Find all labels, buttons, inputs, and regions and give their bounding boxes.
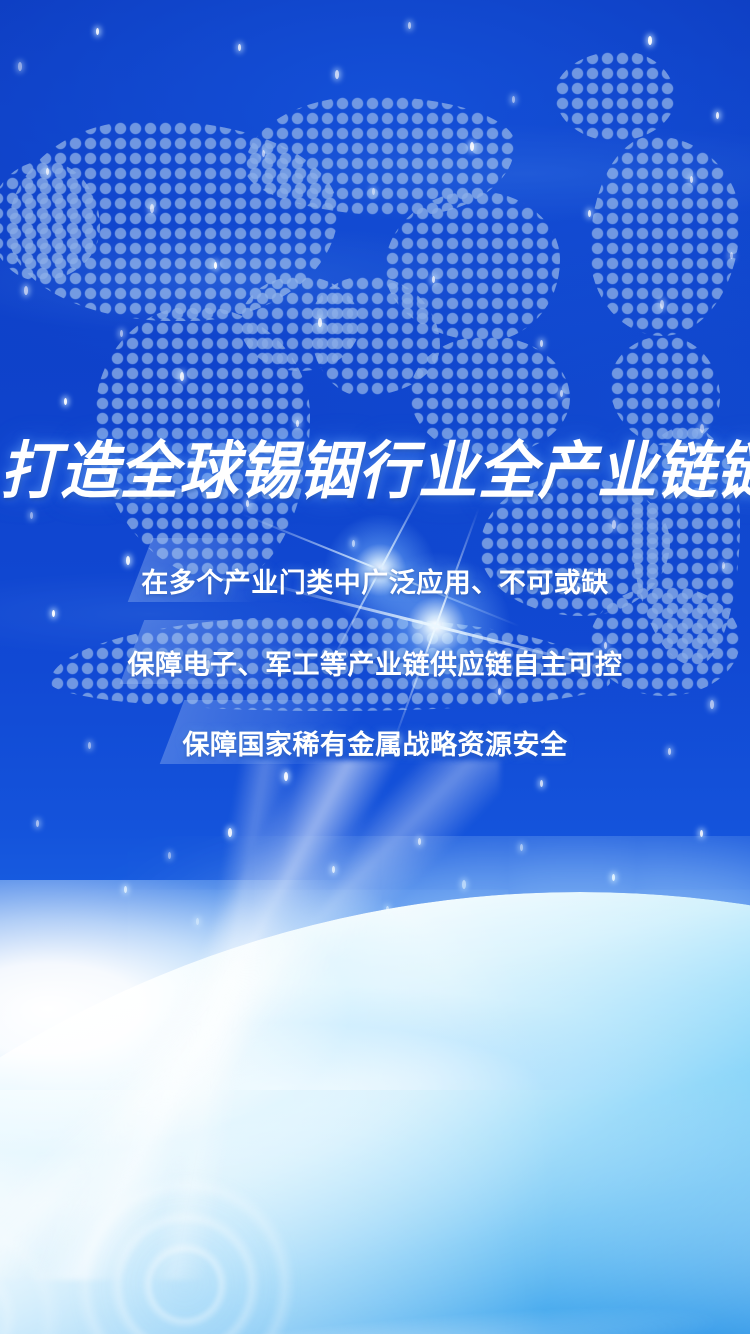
subtitle-line-3: 保障国家稀有金属战略资源安全 [0,723,750,762]
earth-horizon [0,836,750,1334]
map-region-north-america [590,136,740,336]
page-title: 打造全球锡铟行业全产业链链主 [0,420,750,510]
poster-canvas: 打造全球锡铟行业全产业链链主 在多个产业门类中广泛应用、不可或缺 保障电子、军工… [0,0,750,1334]
subtitle-line-1: 在多个产业门类中广泛应用、不可或缺 [0,561,750,600]
map-region-greenland [555,51,675,141]
subtitle-line-2: 保障电子、军工等产业链供应链自主可控 [0,643,750,682]
earth-sphere [0,892,750,1334]
star-particle [36,820,39,827]
